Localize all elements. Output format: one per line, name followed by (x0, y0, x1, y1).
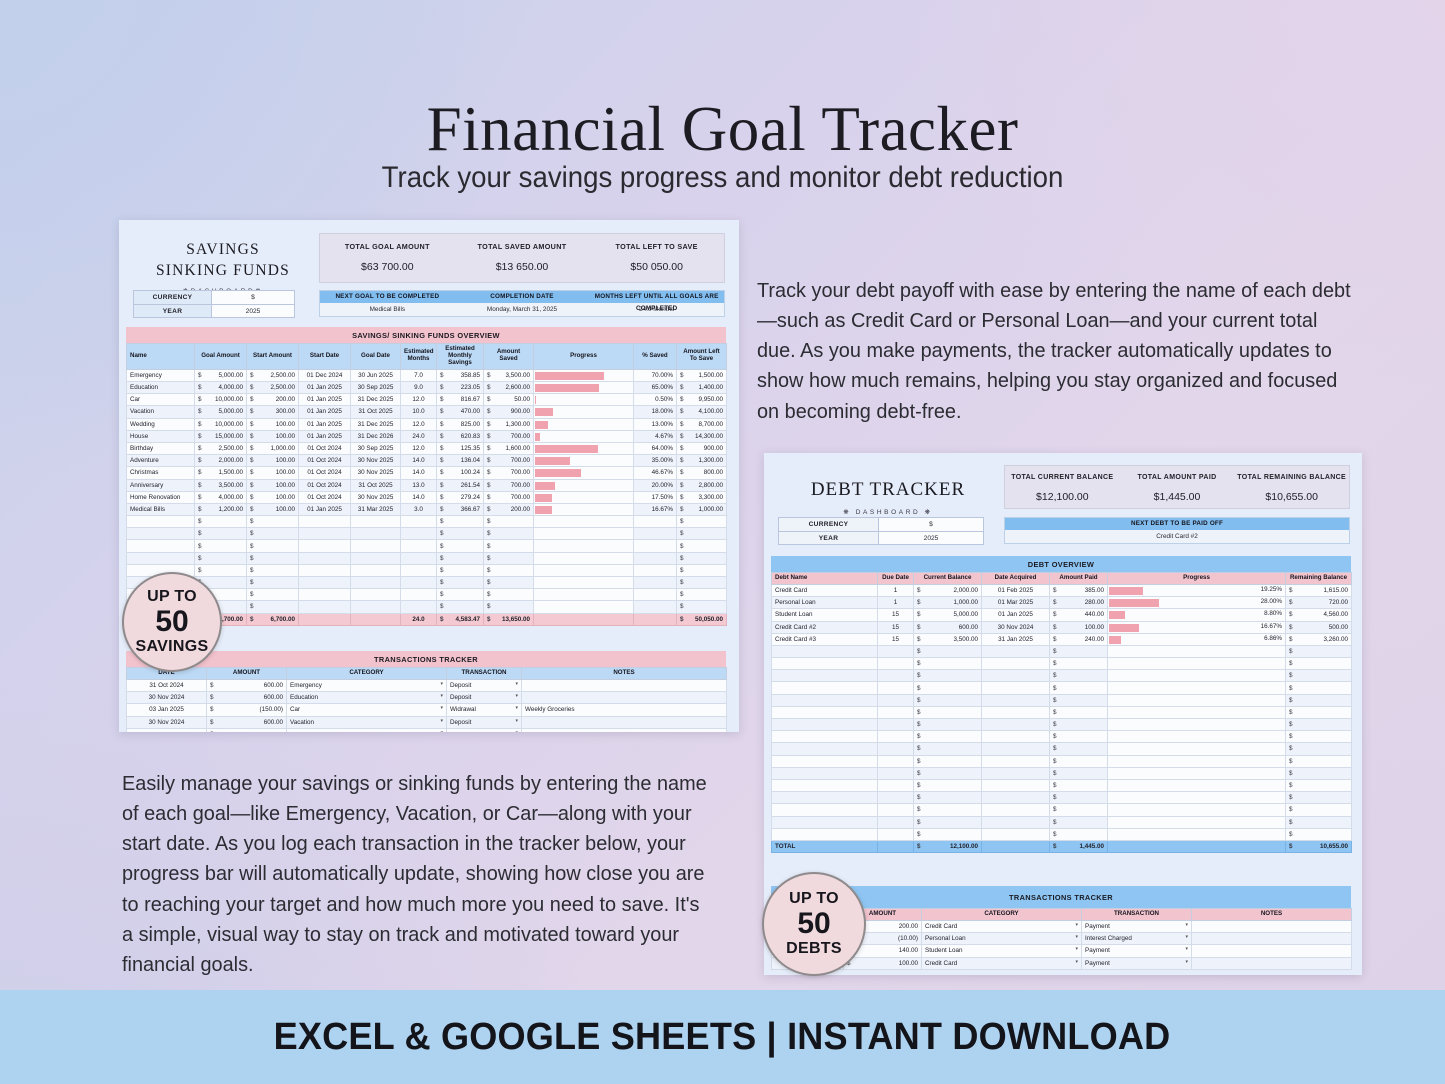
table-cell: 1 (878, 597, 914, 609)
progress-bar-cell (534, 503, 634, 515)
table-cell (351, 577, 401, 589)
table-cell (127, 728, 207, 732)
table-cell: $2,500.00 (195, 442, 247, 454)
table-cell: $ (437, 577, 484, 589)
table-cell: 01 Feb 2025 (982, 584, 1050, 596)
table-cell: $ (195, 564, 247, 576)
dropdown-cell[interactable] (447, 728, 522, 732)
progress-bar-fill (1109, 624, 1139, 632)
table-cell: $ (914, 779, 982, 791)
dropdown-cell[interactable]: Student Loan (922, 945, 1082, 957)
table-cell: $600.00 (914, 621, 982, 633)
table-cell (401, 577, 437, 589)
badge-line3: DEBTS (786, 940, 842, 958)
table-cell: Christmas (127, 467, 195, 479)
dropdown-cell[interactable]: Education (287, 692, 447, 704)
savings-table-row: Home Renovation$4,000.00$100.0001 Oct 20… (127, 491, 727, 503)
table-cell (772, 792, 878, 804)
table-cell: $ (1286, 779, 1352, 791)
table-cell: $(150.00) (207, 704, 287, 716)
column-header: Progress (534, 344, 634, 370)
column-header: Amount Saved (484, 344, 534, 370)
table-cell: 01 Mar 2025 (982, 597, 1050, 609)
table-cell: $500.00 (1286, 621, 1352, 633)
table-cell: $ (914, 828, 982, 840)
table-cell: Wedding (127, 418, 195, 430)
debt-table-empty-row: $$$ (772, 743, 1352, 755)
table-cell (982, 670, 1050, 682)
progress-bar-cell (534, 394, 634, 406)
debt-table-row: Personal Loan1$1,000.0001 Mar 2025$280.0… (772, 597, 1352, 609)
table-cell: $4,100.00 (677, 406, 727, 418)
table-cell: $ (1286, 670, 1352, 682)
progress-bar-fill (535, 506, 552, 514)
badge-line1: UP TO (789, 890, 839, 908)
table-cell: Medical Bills (127, 503, 195, 515)
currency-value[interactable]: $ (879, 518, 983, 531)
savings-table-row: Emergency$5,000.00$2,500.0001 Dec 202430… (127, 369, 727, 381)
savings-next-goal-strip: NEXT GOAL TO BE COMPLETED COMPLETION DAT… (319, 290, 725, 317)
table-cell: $50.00 (484, 394, 534, 406)
savings-table-row: Christmas$1,500.00$100.0001 Oct 202430 N… (127, 467, 727, 479)
table-cell: $700.00 (484, 479, 534, 491)
table-cell (127, 516, 195, 528)
column-header: Goal Amount (195, 344, 247, 370)
progress-bar-cell: 19.25% (1108, 584, 1286, 596)
savings-table-empty-row: $$$$$ (127, 528, 727, 540)
savings-transactions-title-bar: TRANSACTIONS TRACKER (126, 651, 726, 667)
savings-transactions-table: DATEAMOUNTCATEGORYTRANSACTIONNOTES 31 Oc… (126, 667, 727, 732)
table-cell: $ (677, 528, 727, 540)
debt-table-empty-row: $$$ (772, 767, 1352, 779)
year-value[interactable]: 2025 (212, 305, 294, 317)
column-header: TRANSACTION (447, 668, 522, 680)
table-cell: $ (195, 540, 247, 552)
table-cell: $ (195, 516, 247, 528)
table-cell (772, 816, 878, 828)
savings-table-row: Medical Bills$1,200.00$100.0001 Jan 2025… (127, 503, 727, 515)
table-cell (634, 577, 677, 589)
table-cell: $1,300.00 (677, 455, 727, 467)
table-cell (982, 828, 1050, 840)
progress-bar-cell: 28.00% (1108, 597, 1286, 609)
table-cell: 01 Dec 2024 (299, 369, 351, 381)
dropdown-cell[interactable]: Widrawal (447, 704, 522, 716)
debt-brand-line1: DEBT TRACKER (778, 477, 998, 503)
dropdown-cell[interactable]: Deposit (447, 679, 522, 691)
table-cell: $ (247, 552, 299, 564)
column-header: NOTES (1192, 909, 1352, 921)
table-cell (772, 670, 878, 682)
table-cell (351, 564, 401, 576)
table-cell: 01 Oct 2024 (299, 455, 351, 467)
table-cell: $3,300.00 (677, 491, 727, 503)
table-cell: $ (247, 516, 299, 528)
table-cell: $ (1286, 719, 1352, 731)
table-cell: 4.67% (634, 430, 677, 442)
debt-table-row: Student Loan15$5,000.0001 Jan 2025$440.0… (772, 609, 1352, 621)
table-cell (634, 601, 677, 613)
table-cell: Credit Card (772, 584, 878, 596)
savings-table-body: Emergency$5,000.00$2,500.0001 Dec 202430… (127, 369, 727, 625)
table-cell: Adventure (127, 455, 195, 467)
debt-overview-title-bar: DEBT OVERVIEW (771, 556, 1351, 572)
table-cell (772, 694, 878, 706)
badge-line3: SAVINGS (136, 638, 209, 656)
table-cell: $4,560.00 (1286, 609, 1352, 621)
table-cell: $2,500.00 (247, 369, 299, 381)
progress-bar-cell (1108, 792, 1286, 804)
progress-bar-fill (535, 482, 555, 490)
savings-table-row: Vacation$5,000.00$300.0001 Jan 202531 Oc… (127, 406, 727, 418)
table-cell (772, 658, 878, 670)
debt-description-paragraph: Track your debt payoff with ease by ente… (757, 276, 1351, 427)
progress-bar-fill (535, 494, 552, 502)
summary-value: $13 650.00 (455, 261, 590, 273)
table-cell: Education (127, 382, 195, 394)
table-cell: $100.00 (1050, 621, 1108, 633)
progress-percent-label: 28.00% (1261, 598, 1282, 605)
table-cell: $ (1050, 828, 1108, 840)
debt-table-empty-row: $$$ (772, 816, 1352, 828)
page-subtitle: Track your savings progress and monitor … (58, 161, 1387, 195)
table-cell: $100.00 (247, 418, 299, 430)
debt-table-empty-row: $$$ (772, 792, 1352, 804)
table-cell (982, 840, 1050, 852)
table-cell: $ (914, 792, 982, 804)
table-cell: 01 Oct 2024 (299, 467, 351, 479)
table-cell (351, 589, 401, 601)
column-header: Start Amount (247, 344, 299, 370)
table-cell: $2,800.00 (677, 479, 727, 491)
savings-table-empty-row: $$$$$ (127, 540, 727, 552)
progress-bar-cell (534, 540, 634, 552)
table-cell: $4,000.00 (195, 382, 247, 394)
dropdown-cell[interactable]: Personal Loan (922, 933, 1082, 945)
table-cell (127, 528, 195, 540)
table-cell: $ (1050, 731, 1108, 743)
table-cell: 31 Oct 2025 (351, 479, 401, 491)
table-cell: $5,000.00 (914, 609, 982, 621)
table-cell (401, 552, 437, 564)
progress-bar-fill (535, 384, 599, 392)
strip-header: NEXT DEBT TO BE PAID OFF (1005, 518, 1349, 530)
debt-table-empty-row: $$$ (772, 670, 1352, 682)
table-cell: 24.0 (401, 613, 437, 625)
table-cell: 18.00% (634, 406, 677, 418)
table-cell: $ (1286, 804, 1352, 816)
progress-bar-cell (534, 418, 634, 430)
column-header: Amount Paid (1050, 573, 1108, 585)
table-cell (1192, 945, 1352, 957)
progress-bar-fill (535, 421, 548, 429)
table-cell: 31 Dec 2025 (351, 418, 401, 430)
progress-bar-cell (1108, 828, 1286, 840)
table-cell (522, 716, 727, 728)
dropdown-cell[interactable]: Deposit (447, 716, 522, 728)
table-cell (401, 601, 437, 613)
column-header: Due Date (878, 573, 914, 585)
table-cell: $2,000.00 (914, 584, 982, 596)
table-cell: 30 Nov 2025 (351, 491, 401, 503)
table-cell (982, 804, 1050, 816)
table-cell (299, 564, 351, 576)
debt-table-empty-row: $$$ (772, 682, 1352, 694)
table-cell: $ (1286, 816, 1352, 828)
progress-bar-cell (534, 564, 634, 576)
table-cell: 30 Nov 2024 (982, 621, 1050, 633)
table-cell: 30 Sep 2025 (351, 442, 401, 454)
dropdown-cell[interactable]: Credit Card (922, 957, 1082, 969)
table-cell: $600.00 (207, 679, 287, 691)
table-cell: 14.0 (401, 491, 437, 503)
debt-table-empty-row: $$$ (772, 645, 1352, 657)
table-cell: Personal Loan (772, 597, 878, 609)
debt-brand-sub: ❋ DASHBOARD ❋ (778, 508, 998, 516)
column-header: TRANSACTION (1082, 909, 1192, 921)
savings-table-row: Anniversary$3,500.00$100.0001 Oct 202431… (127, 479, 727, 491)
year-value[interactable]: 2025 (879, 532, 983, 544)
table-cell (522, 679, 727, 691)
column-header: CATEGORY (287, 668, 447, 680)
table-cell: $200.00 (484, 503, 534, 515)
table-cell (982, 816, 1050, 828)
table-cell: $ (914, 658, 982, 670)
table-cell: $ (1286, 743, 1352, 755)
table-cell: $ (1050, 779, 1108, 791)
table-cell (401, 540, 437, 552)
table-cell (299, 613, 351, 625)
table-cell: 24.0 (401, 430, 437, 442)
dropdown-cell[interactable]: Car (287, 704, 447, 716)
progress-percent-label: 16.67% (1261, 623, 1282, 630)
dropdown-cell[interactable] (287, 728, 447, 732)
table-cell: 12.0 (401, 442, 437, 454)
table-cell: Credit Card #2 (772, 621, 878, 633)
table-cell: $ (437, 589, 484, 601)
table-cell: $ (247, 577, 299, 589)
debt-table-empty-row: $$$ (772, 719, 1352, 731)
dropdown-cell[interactable]: Payment (1082, 920, 1192, 932)
table-cell: $ (1286, 706, 1352, 718)
savings-transaction-row: 31 Oct 2024$600.00EmergencyDeposit (127, 679, 727, 691)
table-cell: 35.00% (634, 455, 677, 467)
table-cell: $900.00 (677, 442, 727, 454)
table-cell (299, 528, 351, 540)
year-label: YEAR (779, 532, 879, 544)
table-cell: $2,500.00 (247, 382, 299, 394)
progress-bar-fill (535, 469, 581, 477)
debt-table-body: Credit Card1$2,000.0001 Feb 2025$385.001… (772, 584, 1352, 852)
currency-row: CURRENCY $ (779, 518, 983, 531)
table-cell: 01 Oct 2024 (299, 479, 351, 491)
table-cell (351, 528, 401, 540)
table-cell: $825.00 (437, 418, 484, 430)
table-cell: $4,000.00 (195, 491, 247, 503)
progress-bar-fill (535, 445, 598, 453)
dropdown-cell[interactable]: Interest Charged (1082, 933, 1192, 945)
dropdown-cell[interactable]: Deposit (447, 692, 522, 704)
table-cell (772, 743, 878, 755)
table-cell: $ (484, 528, 534, 540)
table-cell (878, 658, 914, 670)
column-header: Debt Name (772, 573, 878, 585)
table-cell: $ (1050, 767, 1108, 779)
progress-bar-cell (534, 528, 634, 540)
table-cell (401, 589, 437, 601)
table-cell: $720.00 (1286, 597, 1352, 609)
table-cell: $15,000.00 (195, 430, 247, 442)
debt-table-empty-row: $$$ (772, 804, 1352, 816)
table-cell: $600.00 (207, 716, 287, 728)
table-cell (982, 743, 1050, 755)
badge-line1: UP TO (147, 588, 197, 606)
progress-bar-fill (535, 457, 570, 465)
progress-bar-cell (1108, 767, 1286, 779)
table-cell: $3,500.00 (484, 369, 534, 381)
savings-currency-year-table: CURRENCY $ YEAR 2025 (133, 290, 295, 318)
table-cell: $ (914, 706, 982, 718)
table-cell (351, 601, 401, 613)
table-cell: $ (914, 645, 982, 657)
summary-label: TOTAL CURRENT BALANCE (1005, 474, 1120, 481)
table-cell (299, 552, 351, 564)
savings-table-row: Car$10,000.00$200.0001 Jan 202531 Dec 20… (127, 394, 727, 406)
table-cell: $100.24 (437, 467, 484, 479)
table-cell: 30 Sep 2025 (351, 382, 401, 394)
savings-table-row: Education$4,000.00$2,500.0001 Jan 202530… (127, 382, 727, 394)
table-cell: $385.00 (1050, 584, 1108, 596)
table-cell (878, 840, 914, 852)
table-cell: $ (1050, 816, 1108, 828)
table-cell: $ (914, 682, 982, 694)
table-cell: $700.00 (484, 491, 534, 503)
table-cell (634, 613, 677, 625)
table-cell: $ (1286, 694, 1352, 706)
debt-table-empty-row: $$$ (772, 658, 1352, 670)
table-cell (982, 694, 1050, 706)
table-cell: Student Loan (772, 609, 878, 621)
strip-values: Medical Bills Monday, March 31, 2025 24.… (320, 303, 724, 316)
debt-total-row: TOTAL$12,100.00$1,445.00$10,655.00 (772, 840, 1352, 852)
dropdown-cell[interactable]: Payment (1082, 957, 1192, 969)
table-cell: 30 Nov 2024 (127, 692, 207, 704)
column-header: Estimated Monthly Savings (437, 344, 484, 370)
table-cell: 0.50% (634, 394, 677, 406)
table-cell: $ (484, 516, 534, 528)
table-cell: $ (677, 589, 727, 601)
debt-table-empty-row: $$$ (772, 694, 1352, 706)
dropdown-cell[interactable]: Credit Card (922, 920, 1082, 932)
savings-table-empty-row: $$$$$ (127, 577, 727, 589)
table-cell: $8,700.00 (677, 418, 727, 430)
table-cell: $ (914, 804, 982, 816)
table-cell: $ (1050, 743, 1108, 755)
table-cell (772, 779, 878, 791)
table-cell: Weekly Groceries (522, 704, 727, 716)
table-cell (982, 706, 1050, 718)
table-cell: TOTAL (772, 840, 878, 852)
table-cell: $ (1050, 792, 1108, 804)
dropdown-cell[interactable]: Payment (1082, 945, 1192, 957)
table-cell: $100.00 (247, 467, 299, 479)
progress-bar-fill (1109, 636, 1121, 644)
table-cell: $ (1286, 828, 1352, 840)
column-header: Date Acquired (982, 573, 1050, 585)
savings-tx-body: 31 Oct 2024$600.00EmergencyDeposit30 Nov… (127, 679, 727, 732)
table-cell: $2,600.00 (484, 382, 534, 394)
dropdown-cell[interactable]: Vacation (287, 716, 447, 728)
table-cell: $1,000.00 (914, 597, 982, 609)
table-cell: $12,100.00 (914, 840, 982, 852)
strip-values: Credit Card #2 (1005, 530, 1349, 543)
table-cell (634, 540, 677, 552)
table-cell: $ (1050, 645, 1108, 657)
table-cell: $ (484, 601, 534, 613)
table-cell: House (127, 430, 195, 442)
dropdown-cell[interactable]: Emergency (287, 679, 447, 691)
savings-table-empty-row: $$$$$ (127, 552, 727, 564)
currency-value[interactable]: $ (212, 291, 294, 304)
table-cell: 14.0 (401, 467, 437, 479)
badge-up-to-50-debts: UP TO 50 DEBTS (762, 872, 866, 976)
table-cell: $100.00 (844, 957, 922, 969)
table-cell: 9.0 (401, 382, 437, 394)
table-cell (982, 779, 1050, 791)
table-cell (878, 645, 914, 657)
progress-bar-fill (1109, 587, 1143, 595)
column-header: Progress (1108, 573, 1286, 585)
table-cell: $5,000.00 (195, 369, 247, 381)
table-cell: 12.0 (401, 394, 437, 406)
table-cell (401, 528, 437, 540)
progress-percent-label: 19.25% (1261, 586, 1282, 593)
table-cell: $300.00 (247, 406, 299, 418)
table-cell: 01 Jan 2025 (299, 418, 351, 430)
column-header: % Saved (634, 344, 677, 370)
table-cell: $ (1286, 645, 1352, 657)
column-header: Remaining Balance (1286, 573, 1352, 585)
table-cell (351, 516, 401, 528)
progress-bar-cell (534, 406, 634, 418)
table-cell: $ (1050, 706, 1108, 718)
column-header: Estimated Months (401, 344, 437, 370)
table-cell (1192, 933, 1352, 945)
table-cell: $ (247, 601, 299, 613)
progress-bar-cell (1108, 743, 1286, 755)
progress-bar-cell (534, 455, 634, 467)
savings-overview-table: NameGoal AmountStart AmountStart DateGoa… (126, 343, 727, 626)
table-cell: $700.00 (484, 467, 534, 479)
table-cell (878, 792, 914, 804)
progress-bar-cell: 6.86% (1108, 633, 1286, 645)
table-cell: $1,300.00 (484, 418, 534, 430)
progress-bar-cell (534, 589, 634, 601)
summary-value: $12,100.00 (1005, 491, 1120, 503)
table-cell: $1,000.00 (247, 442, 299, 454)
savings-table-header-row: NameGoal AmountStart AmountStart DateGoa… (127, 344, 727, 370)
strip-header: COMPLETION DATE (455, 291, 590, 303)
table-cell: $800.00 (677, 467, 727, 479)
table-cell (772, 767, 878, 779)
savings-brand-line1: SAVINGS (133, 240, 313, 261)
year-row: YEAR 2025 (134, 304, 294, 317)
progress-bar-cell (534, 382, 634, 394)
year-row: YEAR 2025 (779, 531, 983, 544)
savings-transaction-row: 03 Jan 2025$(150.00)CarWidrawalWeekly Gr… (127, 704, 727, 716)
progress-bar-cell: 16.67% (1108, 621, 1286, 633)
debt-transaction-row: ary 2025$100.00Credit CardPayment (772, 957, 1352, 969)
